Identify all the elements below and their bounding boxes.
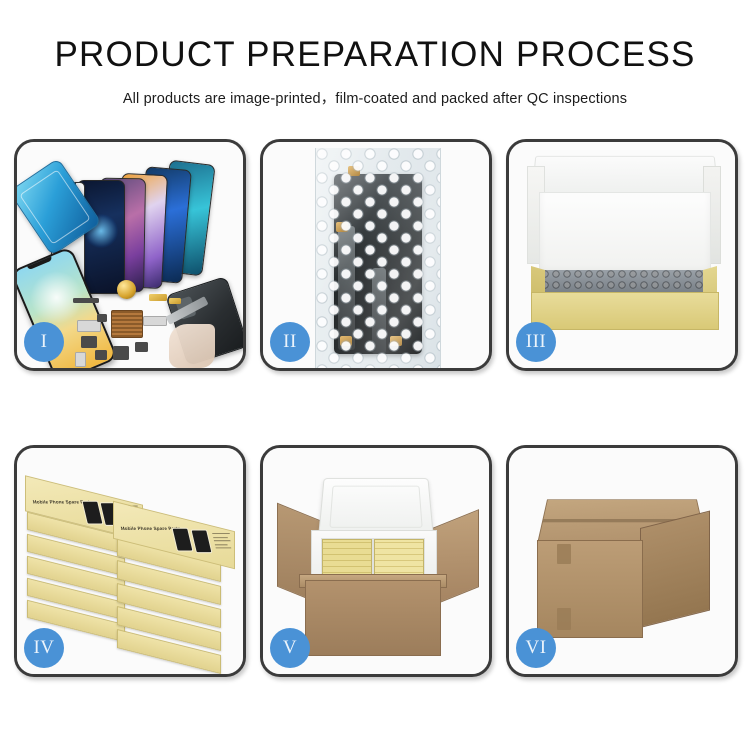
logic-board-chip bbox=[111, 310, 143, 338]
technician-hand bbox=[169, 324, 215, 368]
carton-front-face bbox=[537, 540, 643, 638]
process-steps-grid: I II bbox=[14, 139, 736, 677]
carton-body bbox=[305, 580, 441, 656]
step-panel-2: II bbox=[260, 139, 492, 371]
gold-clip-part bbox=[169, 298, 181, 304]
gold-connector-part bbox=[149, 294, 167, 301]
step-panel-3: III bbox=[506, 139, 738, 371]
step-badge-3: III bbox=[516, 322, 556, 362]
page-subtitle: All products are image-printed，film-coat… bbox=[0, 87, 750, 108]
bubble-wrap-bag bbox=[315, 148, 441, 368]
box-front-panel bbox=[531, 292, 719, 330]
step-badge-1: I bbox=[24, 322, 64, 362]
page-title: PRODUCT PREPARATION PROCESS bbox=[0, 36, 750, 75]
product-preparation-infographic: PRODUCT PREPARATION PROCESS All products… bbox=[0, 0, 750, 750]
earpiece-speaker-part bbox=[73, 298, 99, 303]
step-badge-6: VI bbox=[516, 628, 556, 668]
step-panel-5: V bbox=[260, 445, 492, 677]
step-badge-2: II bbox=[270, 322, 310, 362]
sim-tray-part bbox=[75, 352, 86, 367]
plastic-sheen-overlay bbox=[316, 148, 440, 368]
step-panel-1: I bbox=[14, 139, 246, 371]
carton-side-face bbox=[640, 511, 710, 628]
step-panel-4: Mobile Phone Spare Parts Mobile Phone Sp… bbox=[14, 445, 246, 677]
camera-module-icon bbox=[117, 280, 136, 299]
button-part bbox=[95, 350, 107, 360]
ribbon-cable-part bbox=[143, 316, 167, 326]
step-badge-5: V bbox=[270, 628, 310, 668]
charging-port-part bbox=[113, 346, 129, 360]
vibrator-part bbox=[81, 336, 97, 348]
step-panel-6: VI bbox=[506, 445, 738, 677]
foam-sheet bbox=[539, 192, 711, 276]
box-print-screen-image-2b bbox=[190, 530, 212, 554]
spare-parts-cluster bbox=[73, 280, 203, 368]
inner-yellow-box-group-left bbox=[322, 539, 372, 579]
box-print-text-lines-2 bbox=[212, 533, 234, 551]
header: PRODUCT PREPARATION PROCESS All products… bbox=[0, 0, 750, 108]
foam-box-lid bbox=[318, 478, 434, 537]
step-badge-4: IV bbox=[24, 628, 64, 668]
inner-yellow-box-group-right bbox=[374, 539, 424, 579]
carton-tape-lower bbox=[557, 608, 571, 630]
antenna-part bbox=[135, 342, 148, 352]
carton-tape-upper bbox=[557, 544, 571, 564]
screw-bracket-part bbox=[97, 314, 107, 322]
